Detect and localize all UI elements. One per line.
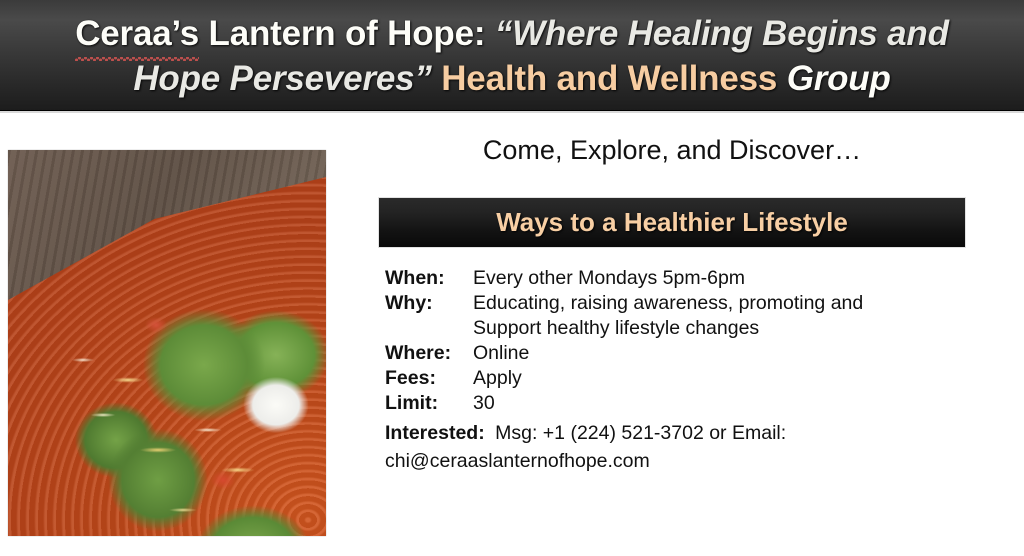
ways-banner-title: Ways to a Healthier Lifestyle (496, 207, 848, 238)
detail-row-fees: Fees: Apply (385, 366, 985, 391)
where-value: Online (473, 341, 985, 366)
tagline-part-1: “Where Healing Begins and (495, 14, 949, 53)
org-name-misspelled: Ceraa’s (75, 11, 199, 56)
why-label: Why: (385, 291, 473, 316)
detail-row-limit: Limit: 30 (385, 391, 985, 416)
header-highlight: Health and Wellness (432, 59, 787, 98)
fees-label: Fees: (385, 366, 473, 391)
org-name-rest: Lantern of Hope: (199, 14, 495, 53)
detail-row-where: Where: Online (385, 341, 985, 366)
food-photo (8, 150, 326, 536)
interested-label: Interested: (385, 422, 485, 444)
where-label: Where: (385, 341, 473, 366)
when-value: Every other Mondays 5pm-6pm (473, 266, 985, 291)
ways-to-healthier-lifestyle-banner: Ways to a Healthier Lifestyle (378, 197, 966, 248)
when-label: When: (385, 266, 473, 291)
fees-value: Apply (473, 366, 985, 391)
interested-email[interactable]: chi@ceraaslanternofhope.com (385, 448, 985, 475)
interested-contact: Msg: +1 (224) 521-3702 or Email: (495, 422, 786, 444)
why-value: Educating, raising awareness, promoting … (473, 291, 985, 341)
detail-row-interested: Interested: Msg: +1 (224) 521-3702 or Em… (385, 420, 985, 475)
subtitle-text: Come, Explore, and Discover… (378, 135, 966, 166)
limit-value: 30 (473, 391, 985, 416)
event-details-list: When: Every other Mondays 5pm-6pm Why: E… (385, 266, 985, 475)
detail-row-why: Why: Educating, raising awareness, promo… (385, 291, 985, 341)
header-group-word: Group (787, 59, 891, 98)
header-title-line-2: Hope Perseveres” Health and Wellness Gro… (133, 56, 890, 101)
detail-row-when: When: Every other Mondays 5pm-6pm (385, 266, 985, 291)
limit-label: Limit: (385, 391, 473, 416)
why-value-line-2: Support healthy lifestyle changes (473, 316, 985, 341)
why-value-line-1: Educating, raising awareness, promoting … (473, 291, 985, 316)
header-banner: Ceraa’s Lantern of Hope: “Where Healing … (0, 0, 1024, 113)
header-title-line-1: Ceraa’s Lantern of Hope: “Where Healing … (75, 11, 949, 56)
tagline-part-2: Hope Perseveres” (133, 59, 431, 98)
